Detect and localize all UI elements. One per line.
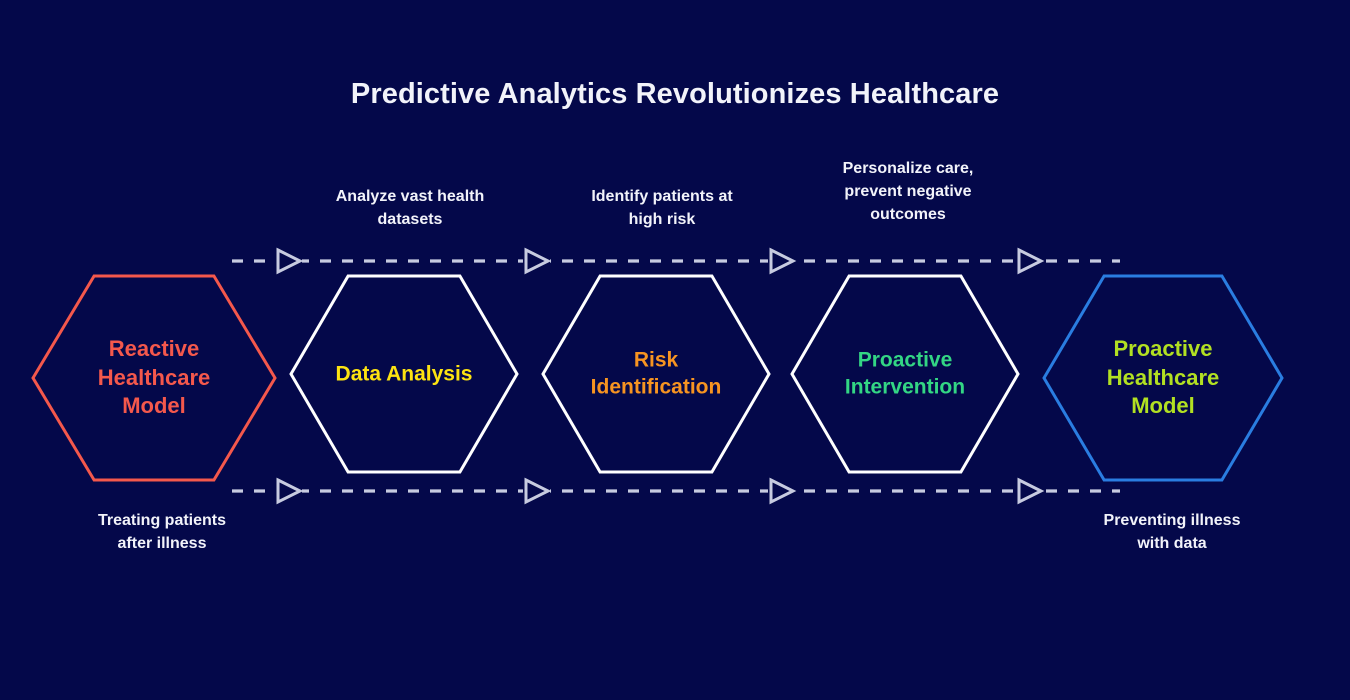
- outcome-caption-preventing-illness-with-data: Preventing illness with data: [1104, 509, 1241, 555]
- bottom-flow-rail: [232, 478, 1120, 504]
- hexagon-node-risk-identification[interactable]: [543, 276, 769, 472]
- page-title: Predictive Analytics Revolutionizes Heal…: [0, 78, 1350, 111]
- hexagon-node-proactive-intervention[interactable]: [792, 276, 1018, 472]
- step-caption-analyze-vast-health-datasets: Analyze vast health datasets: [336, 185, 485, 231]
- hexagon-node-proactive-healthcare-model[interactable]: [1044, 276, 1282, 480]
- outcome-caption-treating-patients-after-illness: Treating patients after illness: [98, 509, 226, 555]
- diagram-canvas: Predictive Analytics Revolutionizes Heal…: [0, 0, 1350, 700]
- hexagon-node-data-analysis[interactable]: [291, 276, 517, 472]
- hexagon-node-reactive-healthcare-model[interactable]: [33, 276, 275, 480]
- step-caption-identify-patients-at-high-risk: Identify patients at high risk: [591, 185, 732, 231]
- top-flow-rail: [232, 248, 1120, 274]
- step-caption-personalize-care-prevent-negative-outcomes: Personalize care, prevent negative outco…: [843, 157, 974, 227]
